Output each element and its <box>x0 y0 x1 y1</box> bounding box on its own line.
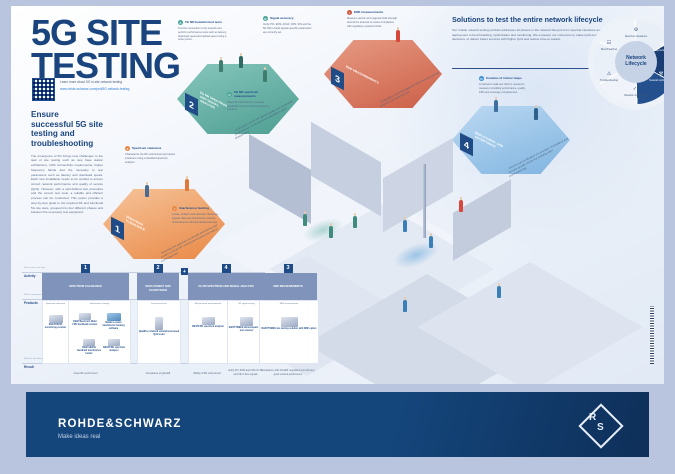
platform-3-note: ! EMF measurements Measure electric and … <box>347 10 399 28</box>
table-col-2-title: DEPLOYMENT AND ACCEPTANCE <box>145 285 170 292</box>
row-hint-activity: What needs to be done <box>24 267 46 269</box>
group-caption: Spectrum clearance <box>43 303 68 305</box>
note-badge-icon: ! <box>347 10 352 15</box>
platform-3-note-body: Measure electric and magnetic field stre… <box>347 17 399 28</box>
analyzer-icon <box>202 317 215 325</box>
table-col-1-group-0: Spectrum clearance R&S®PR200 monitoring … <box>42 300 69 364</box>
qr-block[interactable]: Learn more about 5G in-site network test… <box>32 78 129 101</box>
brand-name: ROHDE&SCHWARZ <box>58 418 182 430</box>
platform-3-person <box>396 30 400 42</box>
platform-2-note-a-title: 5G NR beamformed tests <box>185 21 222 25</box>
scene-person-8 <box>403 300 407 312</box>
group-caption: Interference hunting <box>69 303 130 305</box>
table-col-1-result: Clean RF environment <box>42 372 129 376</box>
platform-2-note-c: C 5G NR spectrum measurements Check the … <box>227 91 271 112</box>
table-col-1-group-1: Interference hunting R&S®Spectrum Rider … <box>68 300 131 364</box>
platform-2-person-a <box>219 60 223 72</box>
table-col-4-result: Validity of RF environment <box>188 372 226 376</box>
product-name: R&S®Spectrum Rider FPH handheld receiver <box>72 321 98 327</box>
poster-page: 5G SITE TESTING Learn more about 5G in-s… <box>11 6 664 384</box>
table-col-3-title: EMF MEASUREMENTS <box>273 285 302 288</box>
table-col-3-result: Compliance with 3G EMF regulations but s… <box>259 369 317 376</box>
platform-2-note-b: B Signal accuracy Verify PCI, EVM, ACLR,… <box>263 16 315 34</box>
scene-person-3 <box>353 216 357 228</box>
footer-bar: ROHDE&SCHWARZ Make ideas real R S <box>26 392 649 457</box>
platform-3[interactable]: 3 EMF MEASUREMENTS Verification of elect… <box>324 40 442 108</box>
scene-person-2 <box>329 226 333 238</box>
scene-person-5 <box>429 236 433 248</box>
platform-2-person-c <box>263 70 267 82</box>
wheel-segment-4-label: Troubleshooting <box>600 79 618 82</box>
table-plus-icon: + <box>181 268 188 275</box>
platform-4-person-a <box>494 100 498 112</box>
note-badge-icon: 1 <box>125 146 130 151</box>
wheel-segment-5-label: Benchmarking <box>601 48 617 51</box>
product-name: R&S®FPH spectrum analyzer <box>102 347 126 353</box>
table-col-2-number: 2 <box>154 264 163 273</box>
platform-2-note-c-body: Check the flat channel, occupied bandwid… <box>227 101 271 112</box>
qr-caption-text: Learn more about 5G in-site network test… <box>60 80 122 84</box>
platform-1-note-a-title: Spectrum clearance <box>132 147 161 151</box>
row-label-activity: Activity <box>24 274 36 278</box>
rs-diamond-logo: R S <box>579 404 619 444</box>
table-col-1-title: SPECTRUM CLEARANCE <box>69 285 102 288</box>
benchmark-icon: ☷ <box>596 40 622 47</box>
scene-person-6 <box>459 200 463 212</box>
row-hint-result: What the test delivers <box>24 358 44 360</box>
platform-1-note-b-title: Interference hunting <box>179 207 209 211</box>
wheel-segment-3-label: Network monitoring <box>624 94 646 97</box>
platform-4-person-b <box>534 108 538 120</box>
comparison-table: What needs to be done Activity Which ins… <box>22 264 265 384</box>
wheel-segment-0[interactable]: ⚙ Spectrum clearance <box>623 27 649 38</box>
product-name: Mobile Locator interference hunting soft… <box>100 322 127 331</box>
poster-root: 5G SITE TESTING Learn more about 5G in-s… <box>0 0 675 474</box>
product-name: QualiPoc Android smartphone based QoS te… <box>138 331 180 337</box>
note-badge-icon: B <box>263 16 268 21</box>
platform-1-person-b <box>185 179 189 191</box>
product-name: R&S®TSME6 site testing solution with EMF… <box>260 328 318 331</box>
platform-2-note-a-body: Test the connection to the network and p… <box>178 27 230 42</box>
note-badge-icon: C <box>227 92 232 97</box>
platform-4-note-title: Creation of indoor maps <box>486 77 522 81</box>
emf-icon <box>281 317 298 327</box>
table-col-4-number: 4 <box>222 264 231 273</box>
qr-url[interactable]: www.rohde-schwarz.com/ped/5G-network-tes… <box>60 87 129 92</box>
poster-title: 5G SITE TESTING <box>31 16 180 82</box>
intro-block: Ensure successful 5G site testing and tr… <box>31 110 103 215</box>
spectrum-icon: ⚙ <box>623 27 649 34</box>
analyzer-icon <box>108 339 120 346</box>
note-badge-icon: D <box>479 76 484 81</box>
wheel-hub-line2: Lifecycle <box>625 61 646 67</box>
comparison-table-col3: 3 EMF MEASUREMENTS EMF measurement R&S®T… <box>259 264 317 384</box>
barcode <box>650 306 654 364</box>
group-caption: Functional tests <box>138 303 180 305</box>
table-col-2-group-0: Functional tests QualiPoc Android smartp… <box>137 300 181 364</box>
platform-1-note-a: 1 Spectrum clearance Characterize the RF… <box>125 146 177 164</box>
table-col-4-group-0: RF/spectrum measurement R&S®FPH spectrum… <box>188 300 228 364</box>
platform-4-note: D Creation of indoor maps A manual or wa… <box>479 76 531 94</box>
software-icon <box>107 313 121 321</box>
handheld-icon <box>79 313 91 320</box>
network-lifecycle-wheel: ⚙ Spectrum clearance ☷ Deployment & setu… <box>588 14 664 110</box>
smartphone-icon <box>155 317 163 330</box>
antenna-icon <box>83 339 95 346</box>
note-badge-icon: A <box>178 20 183 25</box>
wheel-segment-2-label: Network optimization <box>649 79 664 82</box>
table-col-2-result: Acceptance of gNodeB <box>137 372 179 376</box>
platform-2-note-b-body: Verify PCI, EVM, ACLR, CRS, S/N and the … <box>263 23 315 34</box>
platform-2-note-c-title: 5G NR spectrum measurements <box>234 91 271 99</box>
logo-letter-s: S <box>597 422 604 433</box>
wheel-hub: Network Lifecycle <box>615 41 657 83</box>
platform-2-note-b-title: Signal accuracy <box>270 17 294 21</box>
platform-1-note-a-body: Characterize the RF environment and dete… <box>125 153 177 164</box>
platform-4-note-body: A manual or walk test robot is needed to… <box>479 83 531 94</box>
solutions-divider <box>452 68 604 69</box>
solutions-heading: Solutions to test the entire network lif… <box>452 16 604 24</box>
solutions-body: Our mobile network testing portfolio add… <box>452 28 604 42</box>
deployment-icon: ☷ <box>649 41 664 48</box>
monitoring-icon: ✓ <box>622 86 648 93</box>
note-badge-icon: ! <box>172 206 177 211</box>
scene-person-1 <box>303 214 307 226</box>
group-caption: EMF measurement <box>260 303 318 305</box>
product-name: R&S®FPH spectrum analyzer <box>189 326 227 329</box>
table-col-3-number: 3 <box>284 264 293 273</box>
qr-caption: Learn more about 5G in-site network test… <box>60 78 129 91</box>
receiver-icon <box>49 315 63 323</box>
wheel-segment-3[interactable]: ✓ Network monitoring <box>622 86 648 97</box>
scene-person-4 <box>403 220 407 232</box>
platform-1-person-a <box>145 185 149 197</box>
product-name: R&S®HE400 handheld interference hunter <box>77 347 101 356</box>
scene-person-9 <box>497 286 501 298</box>
row-label-products: Products <box>24 301 38 305</box>
platform-3-note-title: EMF measurements <box>354 11 383 15</box>
table-col-3-group-0: EMF measurement R&S®TSME6 site testing s… <box>259 300 319 364</box>
platform-2-person-b <box>239 56 243 68</box>
scanner-icon <box>240 317 253 326</box>
table-col-4-title: 5G NR SPECTRUM AND SIGNAL ANALYSIS <box>198 285 253 288</box>
group-caption: RF/spectrum measurement <box>189 303 227 305</box>
product-name: R&S®PR200 monitoring receiver <box>43 324 68 330</box>
intro-body: The emergence of 5G brings new challenge… <box>31 154 103 215</box>
solutions-block: Solutions to test the entire network lif… <box>452 16 604 42</box>
logo-letter-r: R <box>589 412 596 423</box>
qr-code-icon[interactable] <box>32 78 55 101</box>
intro-heading: Ensure successful 5G site testing and tr… <box>31 110 103 149</box>
platform-2-note-a: A 5G NR beamformed tests Test the connec… <box>178 20 230 42</box>
row-label-result: Result <box>24 365 34 369</box>
antenna-mast <box>423 164 426 238</box>
table-col-1-number: 1 <box>81 264 90 273</box>
wheel-segment-0-label: Spectrum clearance <box>625 35 647 38</box>
wall-right-b <box>453 179 511 260</box>
brand-tagline: Make ideas real <box>58 434 100 440</box>
